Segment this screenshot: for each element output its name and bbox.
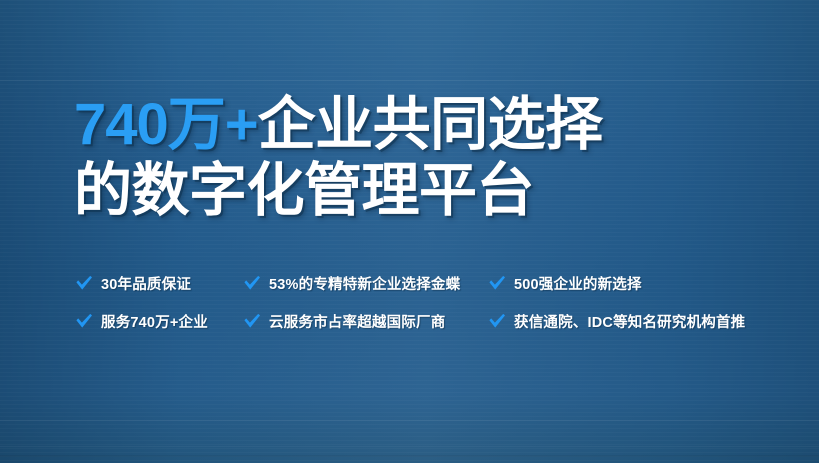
check-icon xyxy=(242,273,262,293)
headline-line-2: 的数字化管理平台 xyxy=(74,154,819,220)
feature-row-1: 30年品质保证 53%的专精特新企业选择金蝶 xyxy=(74,264,819,302)
headline-line-1: 740万+企业共同选择 xyxy=(74,0,819,154)
banner-content: 740万+企业共同选择 的数字化管理平台 30年品质保证 xyxy=(0,0,819,340)
feature-item-analyst-recommended: 获信通院、IDC等知名研究机构首推 xyxy=(487,311,787,332)
check-icon xyxy=(242,311,262,331)
feature-item-serves-740w: 服务740万+企业 xyxy=(74,311,242,332)
check-icon xyxy=(74,273,94,293)
promo-banner: 740万+企业共同选择 的数字化管理平台 30年品质保证 xyxy=(0,0,819,463)
feature-item-30-year-quality: 30年品质保证 xyxy=(74,273,242,294)
feature-label: 500强企业的新选择 xyxy=(514,273,642,294)
feature-item-cloud-market-share: 云服务市占率超越国际厂商 xyxy=(242,311,487,332)
feature-label: 服务740万+企业 xyxy=(101,311,208,332)
feature-list: 30年品质保证 53%的专精特新企业选择金蝶 xyxy=(74,220,819,340)
check-icon xyxy=(74,311,94,331)
check-icon xyxy=(487,311,507,331)
check-icon xyxy=(487,273,507,293)
feature-item-53-percent-sme: 53%的专精特新企业选择金蝶 xyxy=(242,273,487,294)
feature-label: 云服务市占率超越国际厂商 xyxy=(269,311,445,332)
feature-label: 53%的专精特新企业选择金蝶 xyxy=(269,273,460,294)
feature-item-fortune-500: 500强企业的新选择 xyxy=(487,273,787,294)
feature-label: 获信通院、IDC等知名研究机构首推 xyxy=(514,311,745,332)
feature-label: 30年品质保证 xyxy=(101,273,191,294)
headline-line-1-text: 企业共同选择 xyxy=(258,92,603,157)
feature-row-2: 服务740万+企业 云服务市占率超越国际厂商 xyxy=(74,302,819,340)
headline-stat-740w: 740万+ xyxy=(74,92,258,157)
